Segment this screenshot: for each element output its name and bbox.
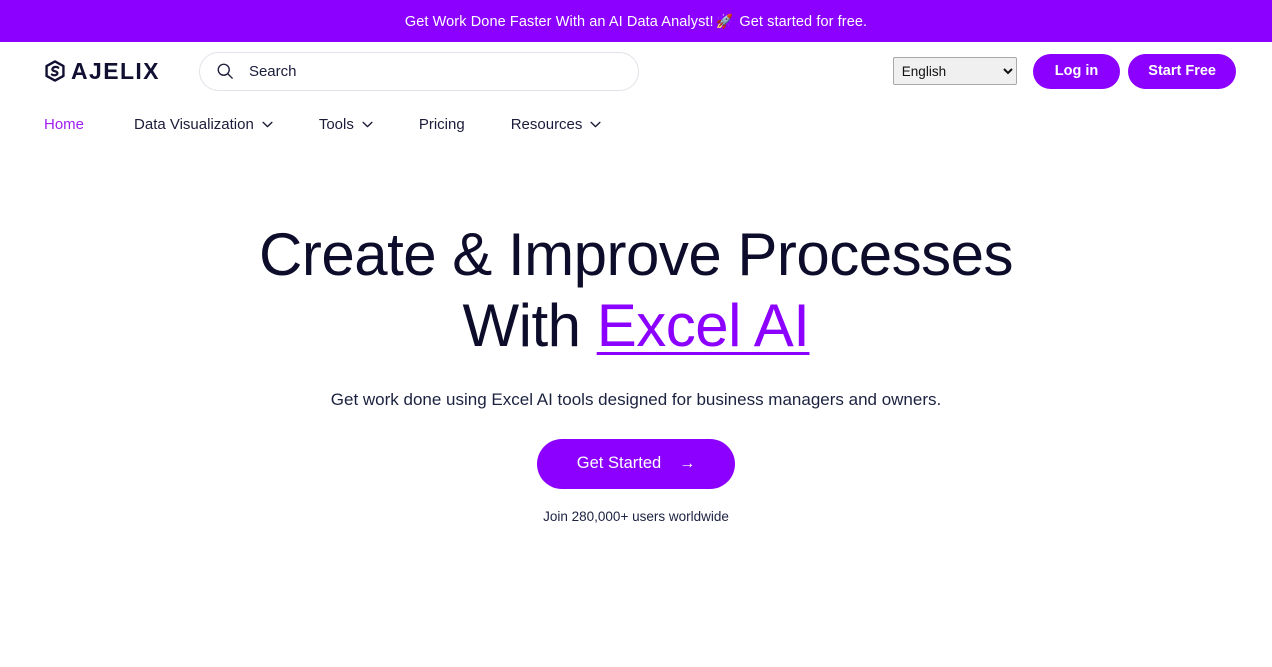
chevron-down-icon	[262, 121, 273, 128]
hero-title-line2-prefix: With	[463, 292, 597, 359]
promo-banner-link[interactable]: Get started for free.	[739, 14, 867, 30]
nav-item-resources[interactable]: Resources	[511, 116, 602, 133]
main-nav: Home Data Visualization Tools Pricing Re…	[0, 100, 1272, 148]
login-button[interactable]: Log in	[1033, 54, 1121, 89]
promo-banner-text: Get Work Done Faster With an AI Data Ana…	[405, 13, 867, 30]
nav-item-label: Pricing	[419, 116, 465, 133]
hero-title-line1: Create & Improve Processes	[259, 221, 1013, 288]
start-free-button[interactable]: Start Free	[1128, 54, 1236, 89]
users-count-note: Join 280,000+ users worldwide	[543, 509, 729, 524]
search-bar[interactable]	[199, 52, 639, 91]
language-select[interactable]: English	[893, 57, 1017, 85]
search-input[interactable]	[249, 63, 622, 80]
nav-item-data-visualization[interactable]: Data Visualization	[134, 116, 273, 133]
chevron-down-icon	[362, 121, 373, 128]
hero-title-accent-link[interactable]: Excel AI	[597, 292, 810, 359]
page-title: Create & Improve Processes With Excel AI	[0, 220, 1272, 362]
nav-item-tools[interactable]: Tools	[319, 116, 373, 133]
nav-item-label: Tools	[319, 116, 354, 133]
promo-banner: Get Work Done Faster With an AI Data Ana…	[0, 0, 1272, 42]
site-header: AJELIX English Log in Start Free	[0, 42, 1272, 100]
nav-item-label: Resources	[511, 116, 583, 133]
nav-item-label: Home	[44, 116, 84, 133]
hero-cta-group: Get Started → Join 280,000+ users worldw…	[0, 439, 1272, 524]
hero-subtitle: Get work done using Excel AI tools desig…	[0, 390, 1272, 410]
hero-section: Create & Improve Processes With Excel AI…	[0, 148, 1272, 524]
header-actions: English Log in Start Free	[893, 54, 1236, 89]
get-started-label: Get Started	[577, 454, 661, 473]
logo[interactable]: AJELIX	[44, 57, 160, 85]
promo-banner-message: Get Work Done Faster With an AI Data Ana…	[405, 14, 714, 30]
search-icon	[216, 62, 234, 80]
chevron-down-icon	[590, 121, 601, 128]
logo-text: AJELIX	[71, 58, 160, 85]
rocket-icon: 🚀	[714, 13, 736, 29]
arrow-right-icon: →	[679, 456, 695, 472]
nav-item-label: Data Visualization	[134, 116, 254, 133]
ajelix-hex-logo-icon	[44, 60, 66, 82]
nav-item-pricing[interactable]: Pricing	[419, 116, 465, 133]
nav-item-home[interactable]: Home	[44, 116, 84, 133]
get-started-button[interactable]: Get Started →	[537, 439, 735, 489]
